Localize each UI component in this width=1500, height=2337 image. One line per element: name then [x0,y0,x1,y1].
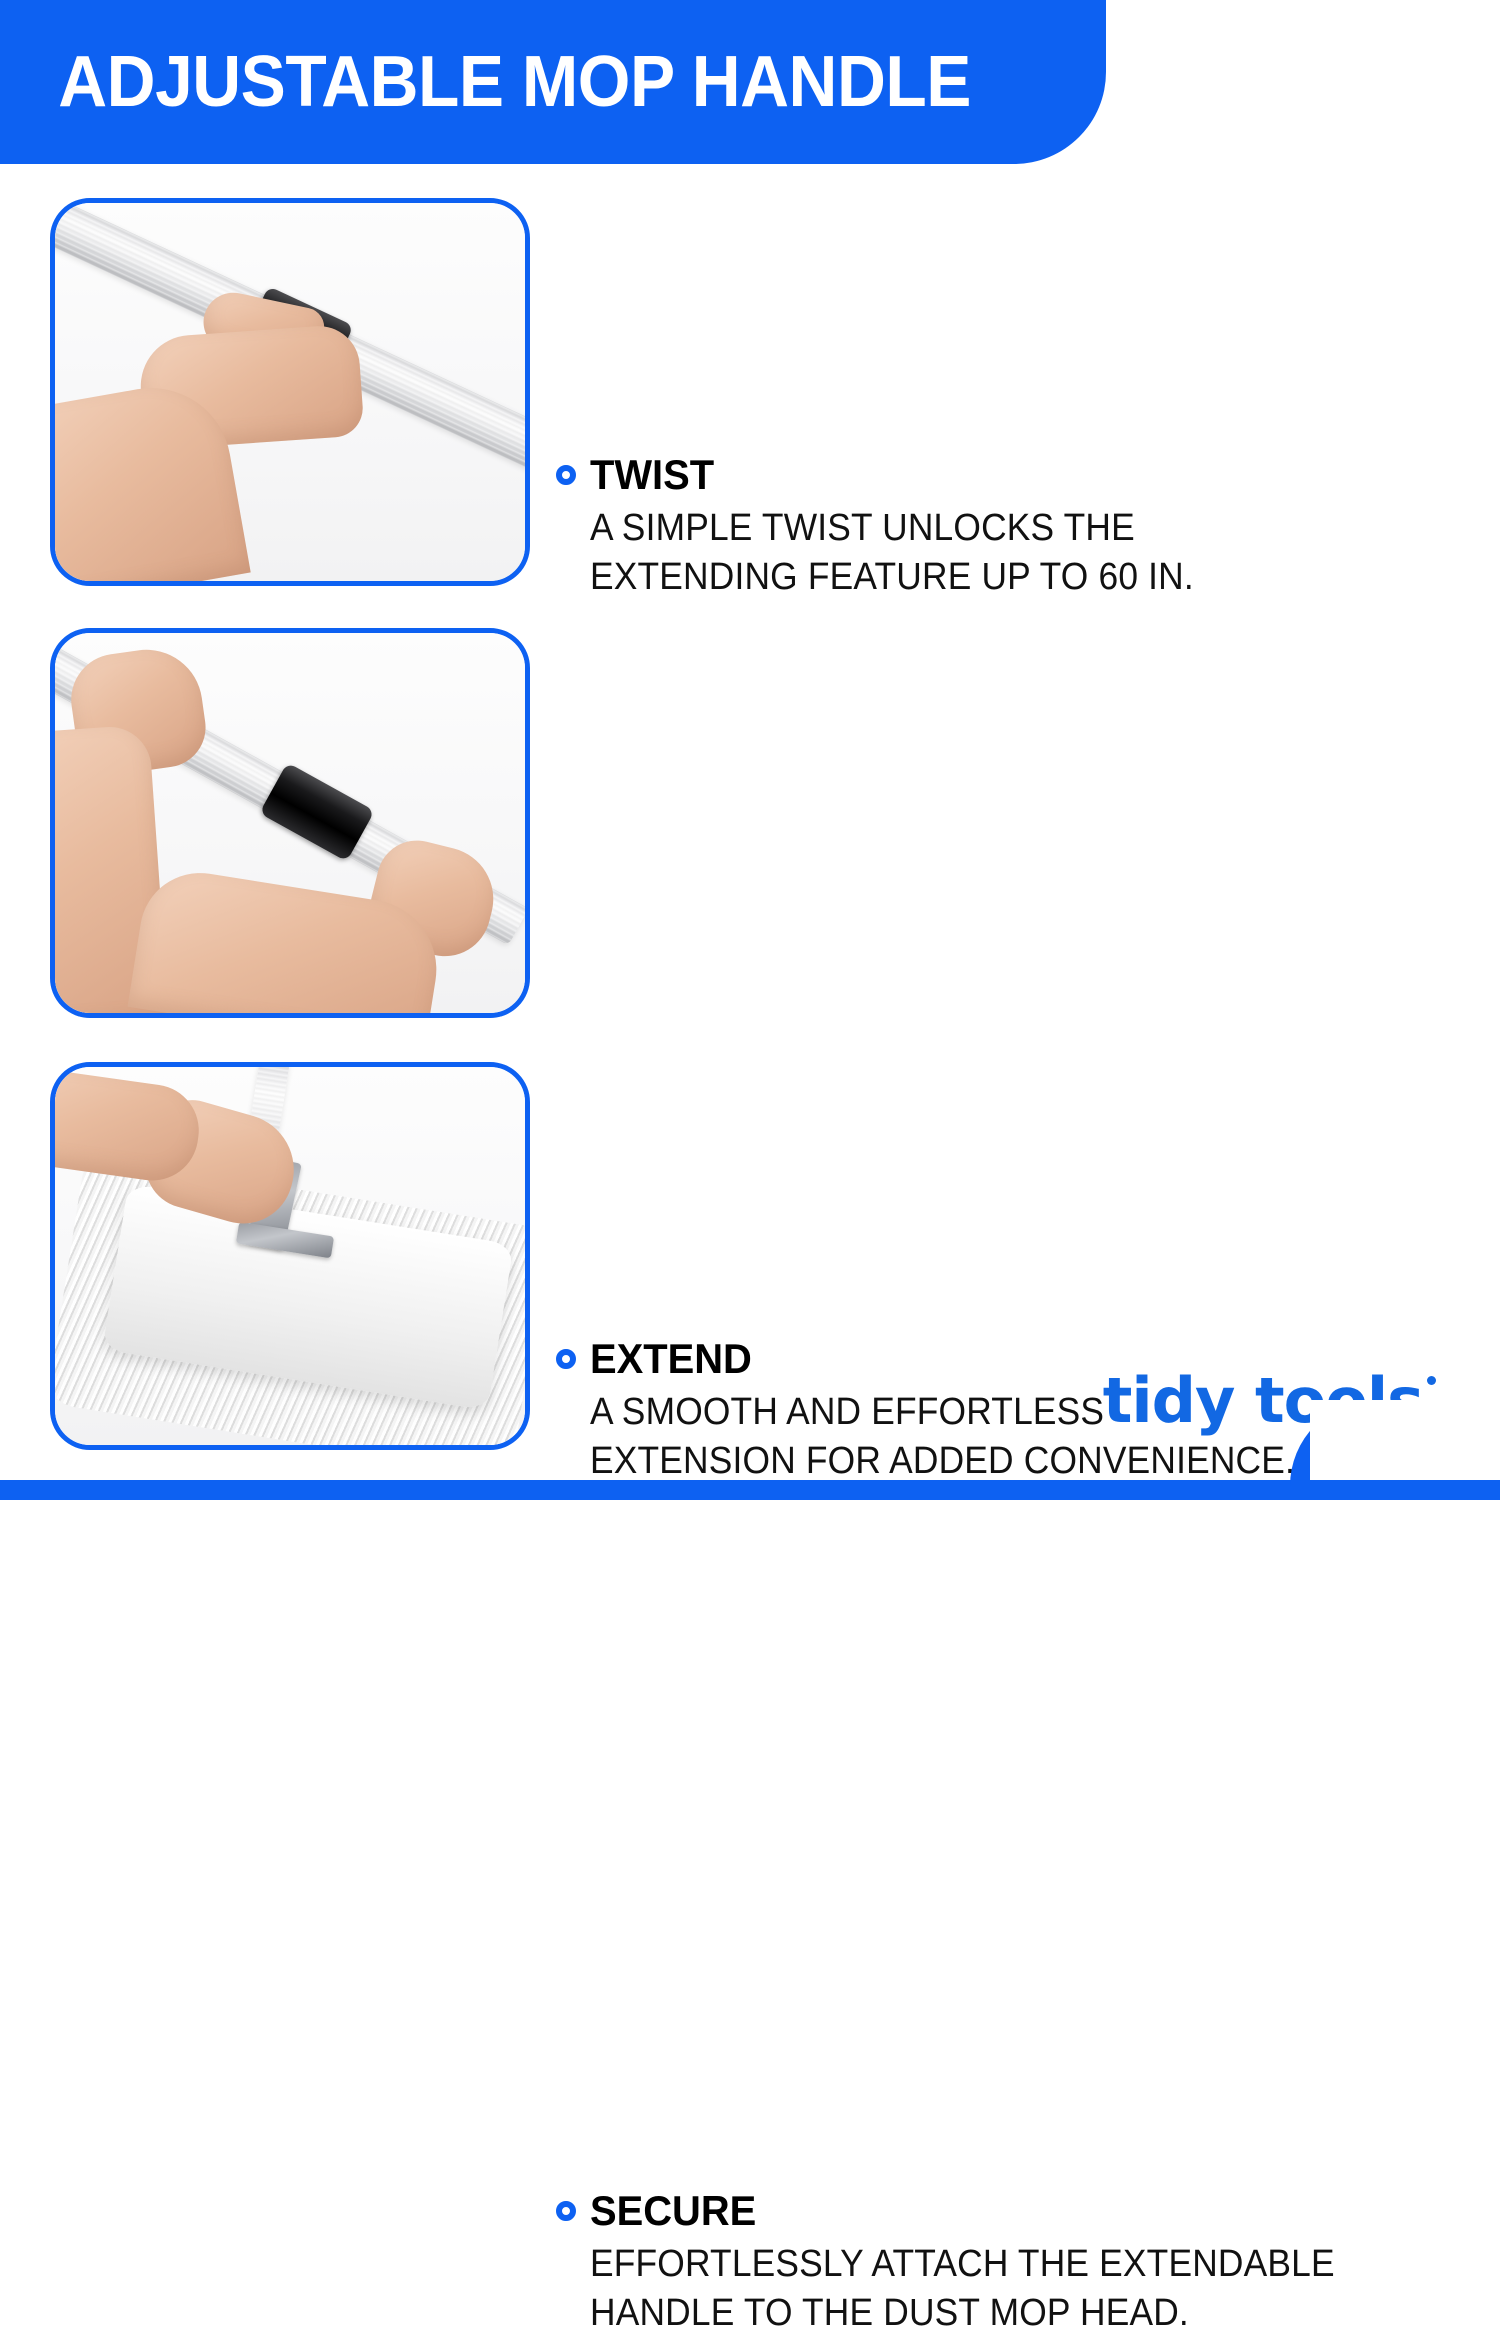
step-description-twist: A SIMPLE TWIST UNLOCKS THE EXTENDING FEA… [590,504,1395,601]
step-image-card-twist [50,198,530,586]
footer-corner-accent [1290,1400,1500,1500]
step-description-line-2: EXTENDING FEATURE UP TO 60 IN. [590,553,1395,602]
photo-secure [55,1067,525,1445]
step-image-card-extend [50,628,530,1018]
steps-list: TWIST A SIMPLE TWIST UNLOCKS THE EXTENDI… [0,0,1500,1500]
ring-bullet-icon [556,465,576,485]
step-heading-secure: SECURE [556,2190,1456,2232]
step-description-line-2: HANDLE TO THE DUST MOP HEAD. [590,2289,1395,2337]
step-row-extend: EXTEND A SMOOTH AND EFFORTLESS EXTENSION… [0,628,1500,1018]
ring-bullet-icon [556,2201,576,2221]
step-heading-twist: TWIST [556,454,1456,496]
step-image-card-secure [50,1062,530,1450]
photo-twist [55,203,525,581]
step-title-twist: TWIST [590,454,714,496]
trademark-dot-icon [1427,1376,1436,1385]
step-text-twist: TWIST A SIMPLE TWIST UNLOCKS THE EXTENDI… [556,454,1456,601]
step-description-line-1: A SIMPLE TWIST UNLOCKS THE [590,504,1395,553]
forearm [55,1067,205,1186]
footer-corner-inner [1310,1400,1500,1480]
step-text-secure: SECURE EFFORTLESSLY ATTACH THE EXTENDABL… [556,2190,1456,2337]
step-description-line-1: EFFORTLESSLY ATTACH THE EXTENDABLE [590,2240,1395,2289]
photo-extend [55,633,525,1013]
step-description-secure: EFFORTLESSLY ATTACH THE EXTENDABLE HANDL… [590,2240,1395,2337]
step-title-secure: SECURE [590,2190,756,2232]
step-row-twist: TWIST A SIMPLE TWIST UNLOCKS THE EXTENDI… [0,198,1500,586]
footer-band [0,1480,1500,1500]
